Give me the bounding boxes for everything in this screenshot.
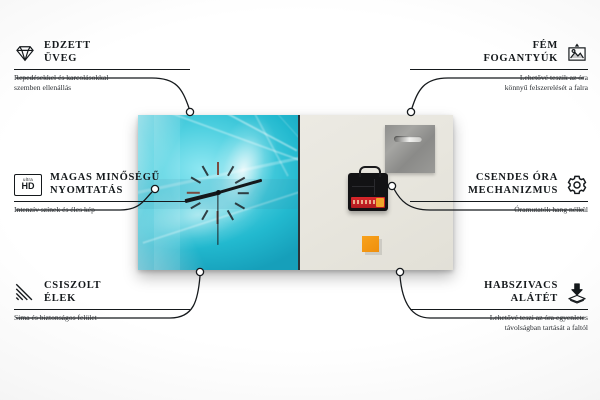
- quartz-mechanism: [348, 173, 388, 211]
- feature-subtitle: Óramutatók hang nélkül: [410, 205, 588, 215]
- feature-subtitle: Repedésekkel és karcolásokkal: [14, 73, 190, 83]
- gear-icon: [566, 174, 588, 196]
- foam-pad: [362, 236, 379, 252]
- feature-subtitle: könnyű felszerelését a falra: [410, 83, 588, 93]
- feature-callout-print: ultra HD MAGAS MINŐSÉGŰ NYOMTATÁS Intenz…: [14, 172, 190, 215]
- feature-title: CSISZOLT: [44, 280, 101, 293]
- hanger-slot: [394, 136, 422, 142]
- mechanism-seam: [352, 186, 374, 187]
- feature-subtitle: Intenzív színek és éles kép: [14, 205, 190, 215]
- battery: [351, 197, 385, 208]
- feature-subtitle: Lehetővé teszik az óra: [410, 73, 588, 83]
- feature-subtitle: szemben ellenállás: [14, 83, 190, 93]
- metal-hanger: [385, 125, 435, 173]
- feature-title: FOGANTYÚK: [483, 53, 558, 66]
- ultra-hd-large-text: HD: [22, 182, 35, 191]
- battery-plus-terminal: [376, 198, 384, 207]
- mechanism-hang-loop: [359, 166, 381, 177]
- diamond-icon: [14, 42, 36, 64]
- feature-callout-handles: FÉM FOGANTYÚK Lehetővé teszik az óra kön…: [410, 40, 588, 92]
- feature-title: MAGAS MINŐSÉGŰ: [50, 172, 160, 185]
- divider: [410, 69, 588, 70]
- divider: [14, 69, 190, 70]
- divider: [410, 201, 588, 202]
- feature-title: ÜVEG: [44, 53, 91, 66]
- feature-title: HABSZIVACS: [484, 280, 558, 293]
- infographic-canvas: EDZETT ÜVEG Repedésekkel és karcolásokka…: [0, 0, 600, 400]
- divider: [410, 309, 588, 310]
- feature-subtitle: Lehetővé teszi az óra egyenletes: [410, 313, 588, 323]
- feature-title: MECHANIZMUS: [468, 185, 558, 198]
- foam-pad-icon: [566, 282, 588, 304]
- feature-title: ALÁTÉT: [484, 293, 558, 306]
- battery-label: [353, 200, 375, 204]
- feature-title: CSENDES ÓRA: [468, 172, 558, 185]
- mechanism-seam: [374, 179, 375, 195]
- ultra-hd-icon: ultra HD: [14, 174, 42, 196]
- feature-title: FÉM: [483, 40, 558, 53]
- divider: [14, 309, 190, 310]
- feature-title: EDZETT: [44, 40, 91, 53]
- feature-subtitle: Sima és biztonságos felület: [14, 313, 190, 323]
- feature-callout-mechanism: CSENDES ÓRA MECHANIZMUS Óramutatók hang …: [410, 172, 588, 215]
- divider: [14, 201, 190, 202]
- feature-callout-foam: HABSZIVACS ALÁTÉT Lehetővé teszi az óra …: [410, 280, 588, 332]
- feature-subtitle: távolságban tartását a faltól: [410, 323, 588, 333]
- feature-title: NYOMTATÁS: [50, 185, 160, 198]
- feature-title: ÉLEK: [44, 293, 101, 306]
- picture-hanger-icon: [566, 42, 588, 64]
- clock-center-pin: [216, 190, 221, 195]
- polished-edge-icon: [14, 282, 36, 304]
- feature-callout-edges: CSISZOLT ÉLEK Sima és biztonságos felüle…: [14, 280, 190, 323]
- feature-callout-glass: EDZETT ÜVEG Repedésekkel és karcolásokka…: [14, 40, 190, 92]
